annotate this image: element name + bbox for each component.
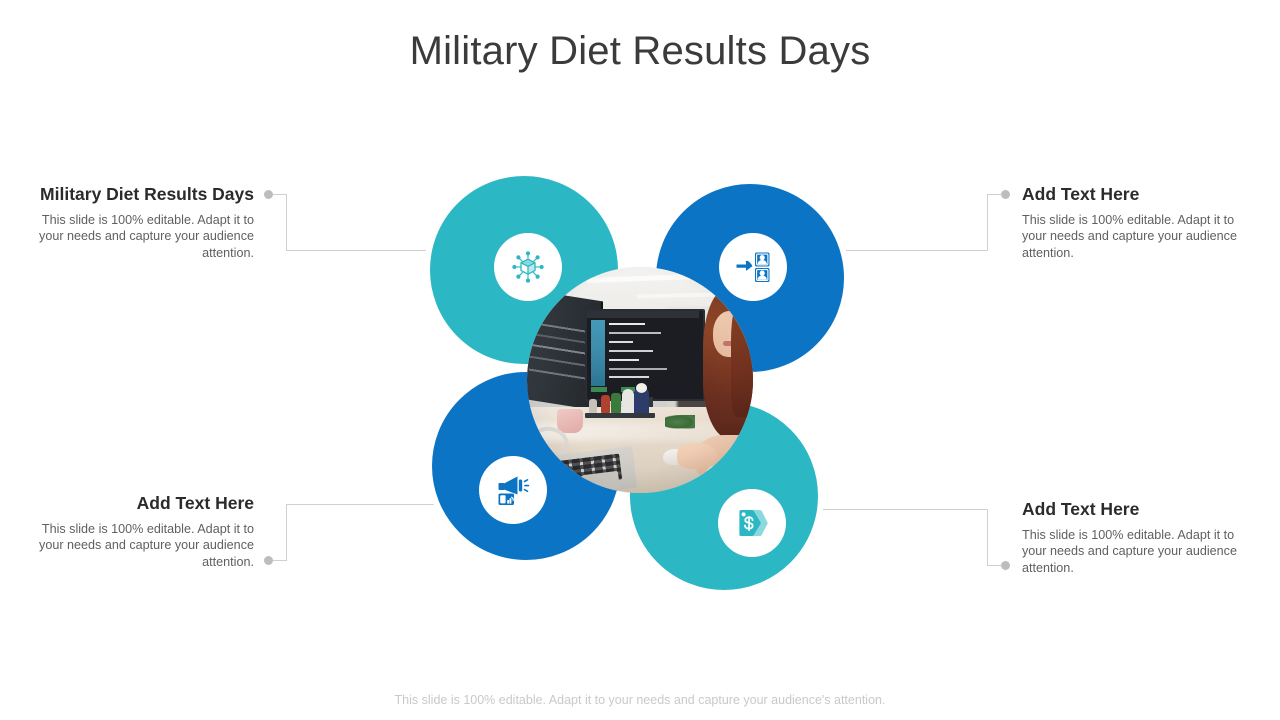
connector-vertical-top-right <box>987 194 988 251</box>
text-block-body-bottom-left: This slide is 100% editable. Adapt it to… <box>18 521 254 570</box>
text-block-top-right[interactable]: Add Text Here This slide is 100% editabl… <box>1022 183 1258 261</box>
connector-dot-bottom-right <box>1001 561 1010 570</box>
text-block-bottom-left[interactable]: Add Text Here This slide is 100% editabl… <box>18 492 254 570</box>
text-block-top-left[interactable]: Military Diet Results Days This slide is… <box>18 183 254 261</box>
connector-vertical-bottom-right <box>987 509 988 566</box>
text-block-body-top-right: This slide is 100% editable. Adapt it to… <box>1022 212 1258 261</box>
text-block-body-bottom-right: This slide is 100% editable. Adapt it to… <box>1022 527 1258 576</box>
connector-dot-bottom-left <box>264 556 273 565</box>
megaphone-icon <box>493 470 533 510</box>
connector-vertical-bottom-left <box>286 504 287 561</box>
text-block-bottom-right[interactable]: Add Text Here This slide is 100% editabl… <box>1022 498 1258 576</box>
network-cube-icon <box>508 247 548 287</box>
center-photo <box>527 267 753 493</box>
price-tag-dollar-icon <box>732 503 772 543</box>
text-block-title-bottom-right: Add Text Here <box>1022 498 1258 520</box>
text-block-title-top-right: Add Text Here <box>1022 183 1258 205</box>
icon-bubble-top-left[interactable] <box>494 233 562 301</box>
connector-dot-top-left <box>264 190 273 199</box>
connector-stub-bottom-left <box>273 560 287 561</box>
icon-bubble-bottom-left[interactable] <box>479 456 547 524</box>
photo-vignette <box>527 267 753 493</box>
page-title: Military Diet Results Days <box>0 26 1280 76</box>
connector-stub-bottom-right <box>987 565 1002 566</box>
text-block-title-bottom-left: Add Text Here <box>18 492 254 514</box>
icon-bubble-top-right[interactable] <box>719 233 787 301</box>
text-block-body-top-left: This slide is 100% editable. Adapt it to… <box>18 212 254 261</box>
hand-select-card-icon <box>733 247 773 287</box>
connector-stub-top-right <box>987 194 1002 195</box>
connector-stub-top-left <box>273 194 287 195</box>
slide-footer: This slide is 100% editable. Adapt it to… <box>0 692 1280 708</box>
icon-bubble-bottom-right[interactable] <box>718 489 786 557</box>
connector-vertical-top-left <box>286 194 287 251</box>
connector-dot-top-right <box>1001 190 1010 199</box>
text-block-title-top-left: Military Diet Results Days <box>18 183 254 205</box>
